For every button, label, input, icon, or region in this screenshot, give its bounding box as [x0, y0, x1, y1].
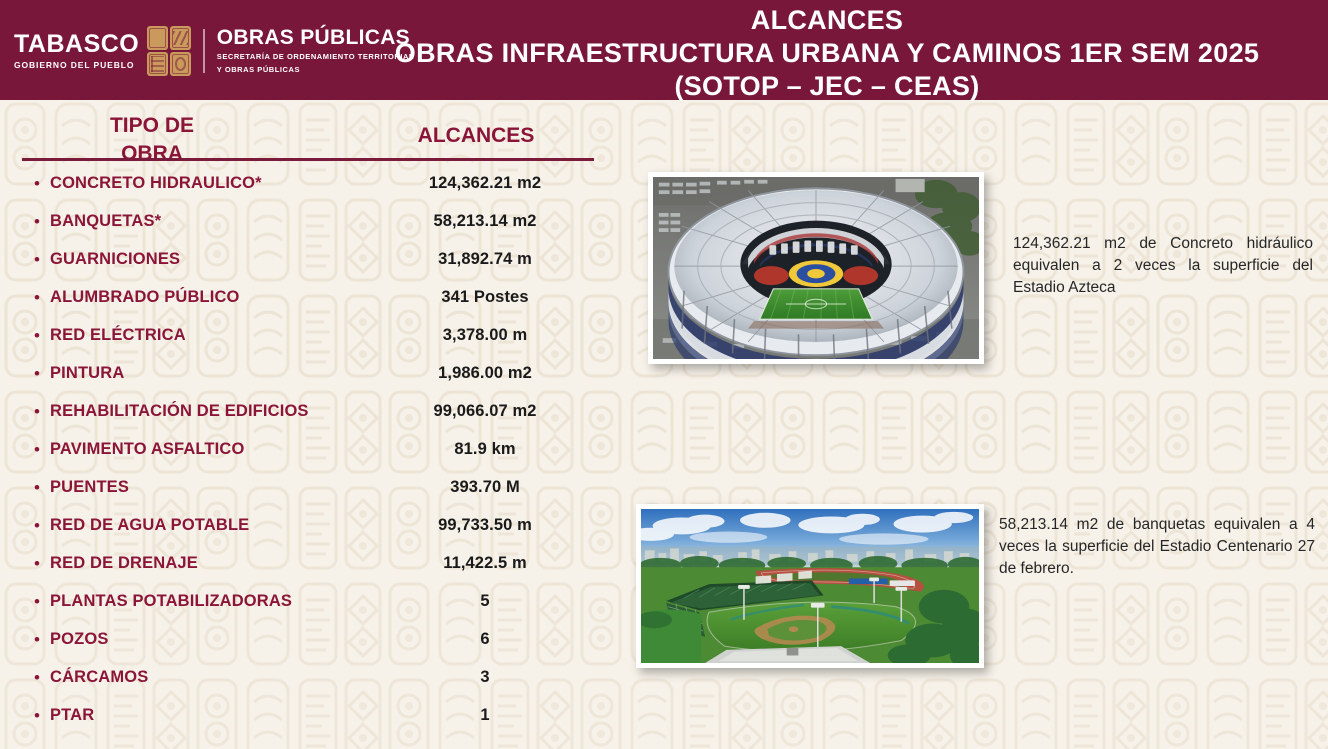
table-row-label: BANQUETAS* — [50, 212, 161, 231]
caption-estadio-centenario: 58,213.14 m2 de banquetas equivalen a 4 … — [999, 514, 1315, 580]
table-row-label: PAVIMENTO ASFALTICO — [50, 440, 244, 459]
table-row-value: 341 Postes — [380, 288, 590, 307]
table-row-label-cell: •PTAR — [0, 706, 380, 725]
table-row-label: RED DE DRENAJE — [50, 554, 198, 573]
table-row-value: 99,066.07 m2 — [380, 402, 590, 421]
table-row-value: 11,422.5 m — [380, 554, 590, 573]
bullet-icon: • — [34, 631, 50, 648]
table-row-value: 6 — [380, 630, 590, 649]
table-header-rule — [22, 158, 594, 161]
table-row-label-cell: •REHABILITACIÓN DE EDIFICIOS — [0, 402, 380, 421]
table-row-value: 5 — [380, 592, 590, 611]
slide-root: TABASCO GOBIERNO DEL PUEBLO OBRAS PÚBLIC… — [0, 0, 1328, 749]
brand-state-tagline: GOBIERNO DEL PUEBLO — [14, 61, 134, 70]
column-header-alcances: ALCANCES — [380, 122, 572, 150]
brand-tabasco-block: TABASCO GOBIERNO DEL PUEBLO — [14, 32, 145, 70]
table-row-value: 1,986.00 m2 — [380, 364, 590, 383]
table-row-label-cell: •RED ELÉCTRICA — [0, 326, 380, 345]
table-row: •CÁRCAMOS3 — [0, 658, 620, 696]
table-row-label-cell: •CONCRETO HIDRAULICO* — [0, 174, 380, 193]
table-row-label: RED DE AGUA POTABLE — [50, 516, 249, 535]
table-row: •REHABILITACIÓN DE EDIFICIOS99,066.07 m2 — [0, 392, 620, 430]
bullet-icon: • — [34, 593, 50, 610]
table-row-label-cell: •RED DE DRENAJE — [0, 554, 380, 573]
table-row-label: PLANTAS POTABILIZADORAS — [50, 592, 292, 611]
table-row-label: RED ELÉCTRICA — [50, 326, 186, 345]
photo-frame-estadio-azteca — [648, 172, 984, 364]
column-header-tipo-de-obra-line1: TIPO DE — [72, 112, 232, 140]
table-row: •CONCRETO HIDRAULICO*124,362.21 m2 — [0, 164, 620, 202]
bullet-icon: • — [34, 365, 50, 382]
table-row-label: GUARNICIONES — [50, 250, 180, 269]
table-body: •CONCRETO HIDRAULICO*124,362.21 m2•BANQU… — [0, 164, 620, 734]
table-row: •PUENTES393.70 M — [0, 468, 620, 506]
table-row-label-cell: •PAVIMENTO ASFALTICO — [0, 440, 380, 459]
bullet-icon: • — [34, 441, 50, 458]
mayan-glyph-logo-icon — [147, 26, 191, 76]
table-row-label-cell: •GUARNICIONES — [0, 250, 380, 269]
table-row-value: 31,892.74 m — [380, 250, 590, 269]
table-row-value: 124,362.21 m2 — [380, 174, 590, 193]
table-row: •PLANTAS POTABILIZADORAS5 — [0, 582, 620, 620]
table-row-value: 3,378.00 m — [380, 326, 590, 345]
table-row-value: 1 — [380, 706, 590, 725]
title-line-3: (SOTOP – JEC – CEAS) — [340, 70, 1314, 103]
caption-estadio-azteca: 124,362.21 m2 de Concreto hidráulico equ… — [1013, 233, 1313, 299]
table-row-label-cell: •RED DE AGUA POTABLE — [0, 516, 380, 535]
table-row-label-cell: •POZOS — [0, 630, 380, 649]
bullet-icon: • — [34, 517, 50, 534]
bullet-icon: • — [34, 555, 50, 572]
photo-estadio-azteca — [653, 177, 979, 359]
table-row: •RED DE AGUA POTABLE99,733.50 m — [0, 506, 620, 544]
bullet-icon: • — [34, 327, 50, 344]
brand-divider — [203, 29, 205, 73]
table-row-label-cell: •CÁRCAMOS — [0, 668, 380, 687]
page-title: ALCANCES OBRAS INFRAESTRUCTURA URBANA Y … — [340, 4, 1314, 103]
bullet-icon: • — [34, 403, 50, 420]
table-row: •PINTURA1,986.00 m2 — [0, 354, 620, 392]
bullet-icon: • — [34, 175, 50, 192]
title-line-1: ALCANCES — [340, 4, 1314, 37]
table-row: •PAVIMENTO ASFALTICO81.9 km — [0, 430, 620, 468]
table-row-label: PINTURA — [50, 364, 124, 383]
table-row: •ALUMBRADO PÚBLICO341 Postes — [0, 278, 620, 316]
bullet-icon: • — [34, 251, 50, 268]
photo-frame-estadio-centenario — [636, 504, 984, 668]
table-row-label-cell: •BANQUETAS* — [0, 212, 380, 231]
table-row-label: POZOS — [50, 630, 109, 649]
table-row-label: CÁRCAMOS — [50, 668, 148, 687]
table-row: •BANQUETAS*58,213.14 m2 — [0, 202, 620, 240]
bullet-icon: • — [34, 707, 50, 724]
table-row-label: PUENTES — [50, 478, 129, 497]
brand-state-name: TABASCO — [14, 32, 139, 57]
table-row-value: 81.9 km — [380, 440, 590, 459]
table-row-value: 3 — [380, 668, 590, 687]
table-row-value: 393.70 M — [380, 478, 590, 497]
table-row-label-cell: •PINTURA — [0, 364, 380, 383]
table-row-label-cell: •PUENTES — [0, 478, 380, 497]
title-line-2: OBRAS INFRAESTRUCTURA URBANA Y CAMINOS 1… — [340, 37, 1314, 70]
table-row-label-cell: •PLANTAS POTABILIZADORAS — [0, 592, 380, 611]
bullet-icon: • — [34, 479, 50, 496]
table-row-label: ALUMBRADO PÚBLICO — [50, 288, 240, 307]
table-row-label: REHABILITACIÓN DE EDIFICIOS — [50, 402, 309, 421]
bullet-icon: • — [34, 213, 50, 230]
table-row-label: CONCRETO HIDRAULICO* — [50, 174, 262, 193]
table-row: •PTAR1 — [0, 696, 620, 734]
table-row: •GUARNICIONES31,892.74 m — [0, 240, 620, 278]
bullet-icon: • — [34, 289, 50, 306]
table-row: •POZOS6 — [0, 620, 620, 658]
table-row-label-cell: •ALUMBRADO PÚBLICO — [0, 288, 380, 307]
photo-estadio-centenario — [641, 509, 979, 663]
table-row-value: 99,733.50 m — [380, 516, 590, 535]
table-row: •RED ELÉCTRICA3,378.00 m — [0, 316, 620, 354]
table-row-label: PTAR — [50, 706, 94, 725]
header-band: TABASCO GOBIERNO DEL PUEBLO OBRAS PÚBLIC… — [0, 0, 1328, 100]
table-row: •RED DE DRENAJE11,422.5 m — [0, 544, 620, 582]
bullet-icon: • — [34, 669, 50, 686]
table-row-value: 58,213.14 m2 — [380, 212, 590, 231]
scope-table: TIPO DE OBRA ALCANCES •CONCRETO HIDRAULI… — [0, 100, 620, 749]
